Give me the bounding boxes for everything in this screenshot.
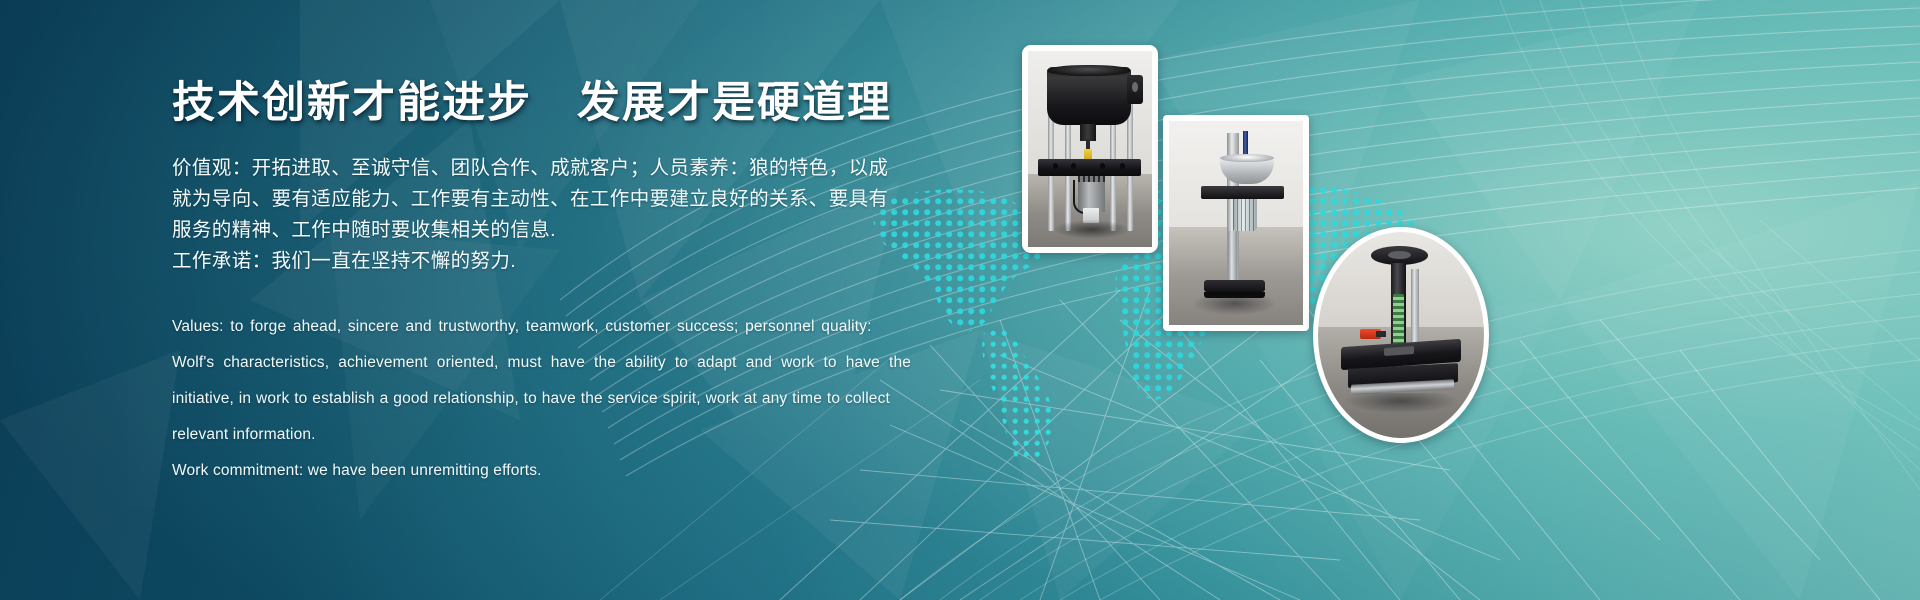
promo-banner: 技术创新才能进步 发展才是硬道理 价值观：开拓进取、至诚守信、团队合作、成就客户… xyxy=(0,0,1920,600)
product-photo-column-mixer-machine[interactable] xyxy=(1163,115,1309,331)
product-photo-bench-press-fixture[interactable] xyxy=(1313,227,1489,443)
chinese-paragraph: 价值观：开拓进取、至诚守信、团队合作、成就客户；人员素养：狼的特色，以成 就为导… xyxy=(172,153,912,277)
photo-content xyxy=(1028,51,1152,247)
chinese-line: 就为导向、要有适应能力、工作要有主动性、在工作中要建立良好的关系、要具有 xyxy=(172,184,912,215)
chinese-line: 工作承诺：我们一直在坚持不懈的努力. xyxy=(172,246,912,277)
headline: 技术创新才能进步 发展才是硬道理 xyxy=(172,78,912,129)
product-photo-bowl-press-machine-front[interactable] xyxy=(1022,45,1158,253)
chinese-line: 服务的精神、工作中随时要收集相关的信息. xyxy=(172,215,912,246)
photo-content xyxy=(1169,121,1303,325)
english-line: relevant information. xyxy=(172,417,912,453)
english-paragraph: Values: to forge ahead, sincere and trus… xyxy=(172,309,912,489)
english-line: Values: to forge ahead, sincere and trus… xyxy=(172,309,912,345)
chinese-line: 价值观：开拓进取、至诚守信、团队合作、成就客户；人员素养：狼的特色，以成 xyxy=(172,153,912,184)
banner-copy: 技术创新才能进步 发展才是硬道理 价值观：开拓进取、至诚守信、团队合作、成就客户… xyxy=(172,78,912,489)
english-line: Work commitment: we have been unremittin… xyxy=(172,453,912,489)
photo-content xyxy=(1318,232,1484,438)
english-line: Wolf's characteristics, achievement orie… xyxy=(172,345,912,381)
english-line: initiative, in work to establish a good … xyxy=(172,381,912,417)
